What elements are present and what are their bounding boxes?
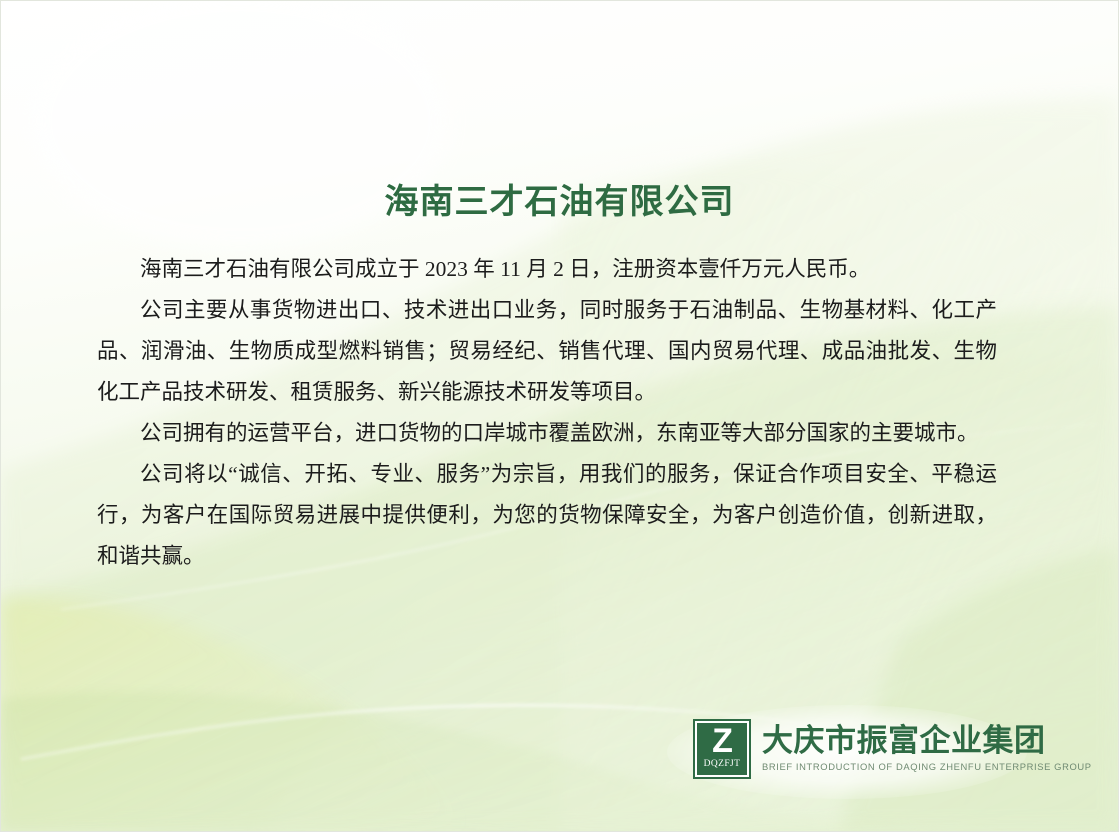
company-logo-lockup: Z DQZFJT 大庆市振富企业集团 BRIEF INTRODUCTION OF… <box>693 719 1092 779</box>
slide-content: 海南三才石油有限公司 海南三才石油有限公司成立于 2023 年 11 月 2 日… <box>1 1 1118 831</box>
logo-wordmark: 大庆市振富企业集团 BRIEF INTRODUCTION OF DAQING Z… <box>762 724 1092 774</box>
paragraph-3: 公司拥有的运营平台，进口货物的口岸城市覆盖欧洲，东南亚等大部分国家的主要城市。 <box>97 413 997 454</box>
body-text-block: 海南三才石油有限公司成立于 2023 年 11 月 2 日，注册资本壹仟万元人民… <box>97 249 997 577</box>
paragraph-4: 公司将以“诚信、开拓、专业、服务”为宗旨，用我们的服务，保证合作项目安全、平稳运… <box>97 454 997 577</box>
logo-company-name-en: BRIEF INTRODUCTION OF DAQING ZHENFU ENTE… <box>762 760 1092 774</box>
logo-abbreviation: DQZFJT <box>704 759 741 770</box>
logo-company-name-cn: 大庆市振富企业集团 <box>762 724 1092 758</box>
paragraph-1: 海南三才石油有限公司成立于 2023 年 11 月 2 日，注册资本壹仟万元人民… <box>97 249 997 290</box>
zhenfu-logo-icon: Z DQZFJT <box>693 719 751 779</box>
logo-letter-z: Z <box>712 724 732 758</box>
logo-mark-inner: Z DQZFJT <box>697 723 747 775</box>
page-title: 海南三才石油有限公司 <box>1 182 1118 223</box>
slide-canvas: 海南三才石油有限公司 海南三才石油有限公司成立于 2023 年 11 月 2 日… <box>0 0 1119 832</box>
paragraph-2: 公司主要从事货物进出口、技术进出口业务，同时服务于石油制品、生物基材料、化工产品… <box>97 290 997 413</box>
